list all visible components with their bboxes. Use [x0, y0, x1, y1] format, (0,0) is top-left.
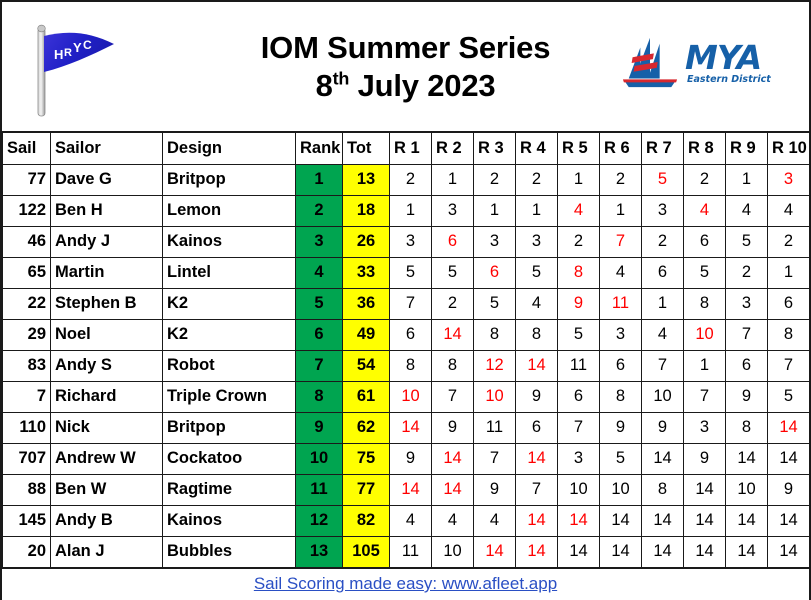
race-score-r1: 14	[390, 474, 432, 505]
race-score-r4: 14	[516, 505, 558, 536]
mya-sailboats-icon	[621, 34, 679, 92]
race-score-r9: 9	[726, 381, 768, 412]
race-score-r5: 9	[558, 288, 600, 319]
race-score-r10: 14	[768, 536, 810, 567]
race-score-r8: 7	[684, 381, 726, 412]
race-score-r3: 1	[474, 195, 516, 226]
race-score-r1: 3	[390, 226, 432, 257]
sailor-name: Richard	[51, 381, 163, 412]
total-score: 36	[343, 288, 390, 319]
race-score-r4: 7	[516, 474, 558, 505]
race-score-r2: 9	[432, 412, 474, 443]
race-score-r1: 7	[390, 288, 432, 319]
race-score-r10: 8	[768, 319, 810, 350]
race-score-r10: 4	[768, 195, 810, 226]
sail-number: 7	[3, 381, 51, 412]
sailor-name: Martin	[51, 257, 163, 288]
header-banner: H R Y C IOM Summer Series 8th July 2023 …	[2, 2, 809, 133]
race-score-r3: 6	[474, 257, 516, 288]
race-score-r7: 9	[642, 412, 684, 443]
race-score-r6: 11	[600, 288, 642, 319]
total-score: 105	[343, 536, 390, 567]
sailor-name: Dave G	[51, 164, 163, 195]
total-score: 62	[343, 412, 390, 443]
race-score-r10: 14	[768, 443, 810, 474]
table-row: 707Andrew WCockatoo1075914714351491414	[3, 443, 810, 474]
svg-text:Y: Y	[73, 40, 82, 55]
race-score-r3: 12	[474, 350, 516, 381]
table-row: 20Alan JBubbles1310511101414141414141414	[3, 536, 810, 567]
afleet-link[interactable]: Sail Scoring made easy: www.afleet.app	[254, 574, 557, 594]
sail-number: 65	[3, 257, 51, 288]
table-row: 88Ben WRagtime11771414971010814109	[3, 474, 810, 505]
race-score-r5: 6	[558, 381, 600, 412]
column-header-r-10[interactable]: R 10	[768, 133, 810, 164]
sail-number: 83	[3, 350, 51, 381]
sail-number: 29	[3, 319, 51, 350]
race-score-r5: 14	[558, 536, 600, 567]
race-score-r5: 5	[558, 319, 600, 350]
table-row: 110NickBritpop9621491167993814	[3, 412, 810, 443]
race-score-r2: 3	[432, 195, 474, 226]
column-header-r-3[interactable]: R 3	[474, 133, 516, 164]
race-score-r9: 6	[726, 350, 768, 381]
race-score-r1: 14	[390, 412, 432, 443]
race-score-r5: 1	[558, 164, 600, 195]
rank-value: 11	[296, 474, 343, 505]
rank-value: 3	[296, 226, 343, 257]
sail-number: 77	[3, 164, 51, 195]
table-row: 7RichardTriple Crown8611071096810795	[3, 381, 810, 412]
title-line-1: IOM Summer Series	[261, 30, 551, 65]
title-ordinal: th	[333, 68, 350, 88]
page-title: IOM Summer Series 8th July 2023	[261, 29, 551, 105]
race-score-r8: 10	[684, 319, 726, 350]
total-score: 13	[343, 164, 390, 195]
race-score-r4: 14	[516, 443, 558, 474]
race-score-r8: 6	[684, 226, 726, 257]
race-score-r7: 1	[642, 288, 684, 319]
boat-design: Britpop	[163, 164, 296, 195]
race-score-r3: 14	[474, 536, 516, 567]
race-score-r9: 4	[726, 195, 768, 226]
boat-design: Britpop	[163, 412, 296, 443]
race-score-r10: 3	[768, 164, 810, 195]
sailor-name: Noel	[51, 319, 163, 350]
race-score-r2: 5	[432, 257, 474, 288]
race-score-r4: 9	[516, 381, 558, 412]
sailor-name: Nick	[51, 412, 163, 443]
table-row: 22Stephen BK253672549111836	[3, 288, 810, 319]
race-score-r6: 1	[600, 195, 642, 226]
boat-design: Cockatoo	[163, 443, 296, 474]
race-score-r5: 11	[558, 350, 600, 381]
race-score-r6: 5	[600, 443, 642, 474]
race-score-r6: 9	[600, 412, 642, 443]
column-header-r-7[interactable]: R 7	[642, 133, 684, 164]
sail-number: 122	[3, 195, 51, 226]
race-score-r3: 9	[474, 474, 516, 505]
race-score-r9: 14	[726, 536, 768, 567]
boat-design: Robot	[163, 350, 296, 381]
race-score-r2: 2	[432, 288, 474, 319]
column-header-r-8[interactable]: R 8	[684, 133, 726, 164]
race-score-r5: 10	[558, 474, 600, 505]
rank-value: 13	[296, 536, 343, 567]
race-score-r3: 5	[474, 288, 516, 319]
race-score-r9: 2	[726, 257, 768, 288]
race-score-r3: 11	[474, 412, 516, 443]
boat-design: Triple Crown	[163, 381, 296, 412]
table-row: 46Andy JKainos3263633272652	[3, 226, 810, 257]
race-score-r6: 14	[600, 536, 642, 567]
sailor-name: Ben W	[51, 474, 163, 505]
race-score-r9: 7	[726, 319, 768, 350]
column-header-r-5[interactable]: R 5	[558, 133, 600, 164]
column-header-r-1[interactable]: R 1	[390, 133, 432, 164]
race-score-r2: 4	[432, 505, 474, 536]
sail-number: 707	[3, 443, 51, 474]
boat-design: K2	[163, 319, 296, 350]
race-score-r10: 14	[768, 412, 810, 443]
race-score-r6: 14	[600, 505, 642, 536]
title-month-year: July 2023	[349, 68, 495, 103]
sail-number: 22	[3, 288, 51, 319]
footer-bar: Sail Scoring made easy: www.afleet.app	[2, 568, 809, 600]
race-score-r2: 6	[432, 226, 474, 257]
table-row: 29NoelK2649614885341078	[3, 319, 810, 350]
column-header-tot[interactable]: Tot	[343, 133, 390, 164]
race-score-r9: 10	[726, 474, 768, 505]
race-score-r1: 6	[390, 319, 432, 350]
sailor-name: Ben H	[51, 195, 163, 226]
total-score: 49	[343, 319, 390, 350]
title-day: 8	[316, 68, 333, 103]
race-score-r8: 14	[684, 474, 726, 505]
race-score-r7: 7	[642, 350, 684, 381]
column-header-sailor[interactable]: Sailor	[51, 133, 163, 164]
hryc-burgee-icon: H R Y C	[24, 16, 120, 120]
race-score-r5: 2	[558, 226, 600, 257]
title-line-2: 8th July 2023	[261, 67, 551, 105]
race-score-r10: 7	[768, 350, 810, 381]
race-score-r2: 8	[432, 350, 474, 381]
column-header-sail[interactable]: Sail	[3, 133, 51, 164]
boat-design: Kainos	[163, 505, 296, 536]
column-header-r-6[interactable]: R 6	[600, 133, 642, 164]
results-table: SailSailorDesignRankTotR 1R 2R 3R 4R 5R …	[2, 133, 810, 568]
table-row: 77Dave GBritpop1132122125213	[3, 164, 810, 195]
race-score-r2: 1	[432, 164, 474, 195]
race-score-r1: 4	[390, 505, 432, 536]
column-header-r-2[interactable]: R 2	[432, 133, 474, 164]
race-score-r4: 2	[516, 164, 558, 195]
race-score-r4: 8	[516, 319, 558, 350]
table-row: 145Andy BKainos128244414141414141414	[3, 505, 810, 536]
race-score-r1: 10	[390, 381, 432, 412]
race-score-r3: 4	[474, 505, 516, 536]
race-score-r2: 10	[432, 536, 474, 567]
race-score-r9: 8	[726, 412, 768, 443]
race-score-r3: 10	[474, 381, 516, 412]
race-score-r6: 4	[600, 257, 642, 288]
race-score-r4: 14	[516, 536, 558, 567]
mya-wordmark: MYA Eastern District	[685, 41, 771, 85]
boat-design: Ragtime	[163, 474, 296, 505]
race-score-r6: 8	[600, 381, 642, 412]
race-score-r2: 14	[432, 443, 474, 474]
race-score-r10: 5	[768, 381, 810, 412]
table-row: 65MartinLintel4335565846521	[3, 257, 810, 288]
race-score-r10: 6	[768, 288, 810, 319]
race-score-r8: 3	[684, 412, 726, 443]
race-score-r5: 14	[558, 505, 600, 536]
total-score: 54	[343, 350, 390, 381]
column-header-rank[interactable]: Rank	[296, 133, 343, 164]
race-score-r10: 9	[768, 474, 810, 505]
rank-value: 5	[296, 288, 343, 319]
results-sheet: H R Y C IOM Summer Series 8th July 2023 …	[0, 0, 811, 600]
svg-text:H: H	[54, 47, 63, 62]
rank-value: 6	[296, 319, 343, 350]
sailor-name: Andy B	[51, 505, 163, 536]
sailor-name: Andrew W	[51, 443, 163, 474]
rank-value: 7	[296, 350, 343, 381]
table-header-row: SailSailorDesignRankTotR 1R 2R 3R 4R 5R …	[3, 133, 810, 164]
rank-value: 12	[296, 505, 343, 536]
mya-title: MYA	[685, 41, 761, 74]
sail-number: 20	[3, 536, 51, 567]
total-score: 75	[343, 443, 390, 474]
race-score-r7: 14	[642, 505, 684, 536]
race-score-r7: 8	[642, 474, 684, 505]
race-score-r7: 14	[642, 443, 684, 474]
race-score-r1: 5	[390, 257, 432, 288]
sail-number: 46	[3, 226, 51, 257]
race-score-r1: 11	[390, 536, 432, 567]
race-score-r6: 3	[600, 319, 642, 350]
svg-text:R: R	[64, 47, 72, 59]
race-score-r10: 1	[768, 257, 810, 288]
race-score-r10: 2	[768, 226, 810, 257]
total-score: 18	[343, 195, 390, 226]
race-score-r7: 4	[642, 319, 684, 350]
race-score-r2: 14	[432, 474, 474, 505]
total-score: 82	[343, 505, 390, 536]
total-score: 61	[343, 381, 390, 412]
race-score-r9: 3	[726, 288, 768, 319]
race-score-r8: 5	[684, 257, 726, 288]
race-score-r3: 2	[474, 164, 516, 195]
column-header-design[interactable]: Design	[163, 133, 296, 164]
rank-value: 4	[296, 257, 343, 288]
boat-design: Bubbles	[163, 536, 296, 567]
rank-value: 2	[296, 195, 343, 226]
race-score-r5: 3	[558, 443, 600, 474]
rank-value: 1	[296, 164, 343, 195]
race-score-r10: 14	[768, 505, 810, 536]
race-score-r9: 14	[726, 505, 768, 536]
boat-design: Lintel	[163, 257, 296, 288]
race-score-r4: 3	[516, 226, 558, 257]
race-score-r2: 7	[432, 381, 474, 412]
race-score-r9: 14	[726, 443, 768, 474]
race-score-r9: 5	[726, 226, 768, 257]
rank-value: 8	[296, 381, 343, 412]
race-score-r6: 6	[600, 350, 642, 381]
sail-number: 145	[3, 505, 51, 536]
column-header-r-4[interactable]: R 4	[516, 133, 558, 164]
race-score-r4: 5	[516, 257, 558, 288]
race-score-r7: 2	[642, 226, 684, 257]
race-score-r7: 3	[642, 195, 684, 226]
race-score-r8: 9	[684, 443, 726, 474]
mya-logo: MYA Eastern District	[621, 27, 781, 99]
boat-design: K2	[163, 288, 296, 319]
race-score-r5: 7	[558, 412, 600, 443]
race-score-r7: 5	[642, 164, 684, 195]
sailor-name: Andy J	[51, 226, 163, 257]
sailor-name: Alan J	[51, 536, 163, 567]
sail-number: 88	[3, 474, 51, 505]
race-score-r3: 3	[474, 226, 516, 257]
total-score: 77	[343, 474, 390, 505]
race-score-r1: 2	[390, 164, 432, 195]
race-score-r8: 1	[684, 350, 726, 381]
race-score-r4: 4	[516, 288, 558, 319]
race-score-r3: 8	[474, 319, 516, 350]
race-score-r8: 8	[684, 288, 726, 319]
race-score-r1: 8	[390, 350, 432, 381]
sailor-name: Andy S	[51, 350, 163, 381]
race-score-r4: 1	[516, 195, 558, 226]
sail-number: 110	[3, 412, 51, 443]
race-score-r6: 2	[600, 164, 642, 195]
race-score-r8: 14	[684, 505, 726, 536]
race-score-r8: 14	[684, 536, 726, 567]
table-header: SailSailorDesignRankTotR 1R 2R 3R 4R 5R …	[3, 133, 810, 164]
boat-design: Kainos	[163, 226, 296, 257]
table-body: 77Dave GBritpop1132122125213122Ben HLemo…	[3, 164, 810, 567]
race-score-r9: 1	[726, 164, 768, 195]
race-score-r1: 9	[390, 443, 432, 474]
race-score-r4: 14	[516, 350, 558, 381]
table-row: 83Andy SRobot7548812141167167	[3, 350, 810, 381]
race-score-r6: 7	[600, 226, 642, 257]
total-score: 33	[343, 257, 390, 288]
race-score-r7: 14	[642, 536, 684, 567]
race-score-r8: 2	[684, 164, 726, 195]
rank-value: 9	[296, 412, 343, 443]
race-score-r3: 7	[474, 443, 516, 474]
race-score-r1: 1	[390, 195, 432, 226]
rank-value: 10	[296, 443, 343, 474]
table-row: 122Ben HLemon2181311413444	[3, 195, 810, 226]
race-score-r8: 4	[684, 195, 726, 226]
boat-design: Lemon	[163, 195, 296, 226]
race-score-r6: 10	[600, 474, 642, 505]
race-score-r5: 8	[558, 257, 600, 288]
sailor-name: Stephen B	[51, 288, 163, 319]
svg-text:C: C	[83, 38, 92, 52]
column-header-r-9[interactable]: R 9	[726, 133, 768, 164]
race-score-r7: 10	[642, 381, 684, 412]
race-score-r5: 4	[558, 195, 600, 226]
race-score-r7: 6	[642, 257, 684, 288]
total-score: 26	[343, 226, 390, 257]
race-score-r4: 6	[516, 412, 558, 443]
mya-district: Eastern District	[687, 75, 771, 85]
race-score-r2: 14	[432, 319, 474, 350]
